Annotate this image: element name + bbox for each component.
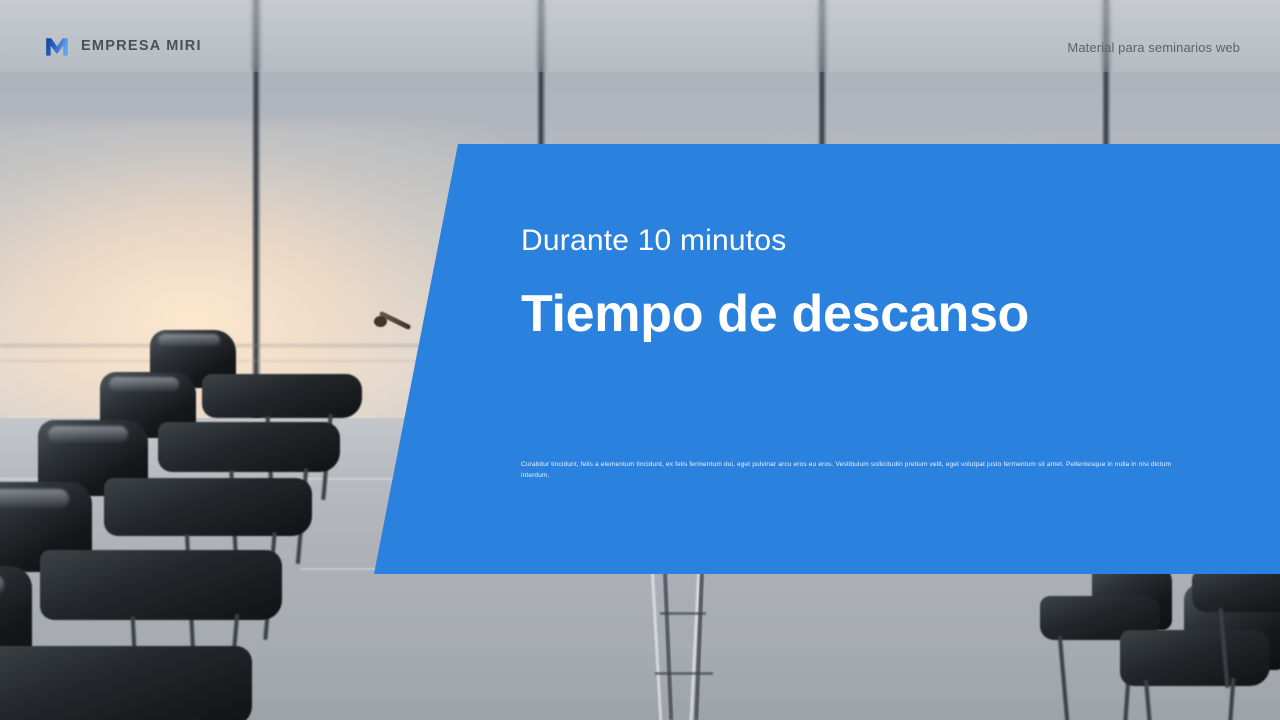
presentation-slide: EMPRESA MIRI Material para seminarios we… xyxy=(0,0,1280,720)
m-logo-icon xyxy=(44,34,70,58)
brand-name: EMPRESA MIRI xyxy=(81,38,202,54)
aisle-rung xyxy=(660,612,706,615)
body-paragraph: Curabitur tincidunt, felis a elementum t… xyxy=(521,460,1191,481)
microphone-head xyxy=(374,316,387,327)
panel-content: Durante 10 minutos Tiempo de descanso Cu… xyxy=(521,144,1221,574)
header-right-label: Material para seminarios web xyxy=(1067,40,1240,55)
eyebrow-text: Durante 10 minutos xyxy=(521,224,786,258)
brand-lockup: EMPRESA MIRI xyxy=(44,34,202,58)
slide-header: EMPRESA MIRI Material para seminarios we… xyxy=(0,0,1280,72)
aisle-rung xyxy=(655,672,713,675)
chair xyxy=(0,566,250,720)
page-title: Tiempo de descanso xyxy=(521,284,1029,345)
